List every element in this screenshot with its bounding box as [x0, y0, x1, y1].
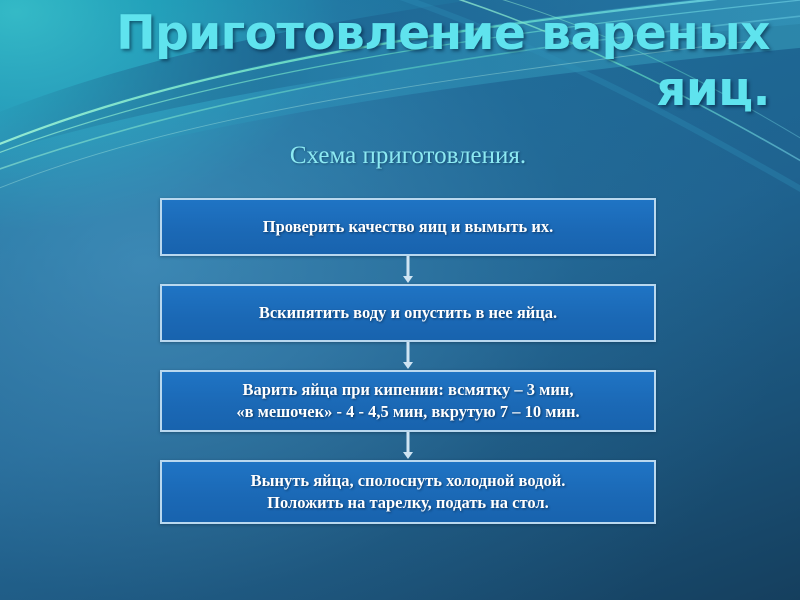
flow-node-label: Проверить качество яиц и вымыть их.	[263, 216, 553, 238]
connector-line	[407, 432, 410, 454]
process-flowchart: Проверить качество яиц и вымыть их. Вски…	[160, 198, 656, 524]
flow-connector-3	[160, 432, 656, 460]
flow-node-label: Варить яйца при кипении: всмятку – 3 мин…	[236, 379, 579, 423]
connector-line	[407, 256, 410, 278]
flow-connector-2	[160, 342, 656, 370]
connector-line	[407, 342, 410, 364]
flow-connector-1	[160, 256, 656, 284]
arrow-down-icon	[403, 276, 413, 283]
flow-node-label: Вскипятить воду и опустить в нее яйца.	[259, 302, 557, 324]
presentation-slide: Приготовление вареных яиц. Схема пригото…	[0, 0, 800, 600]
flow-node-step-4: Вынуть яйца, сполоснуть холодной водой. …	[160, 460, 656, 524]
flow-node-step-1: Проверить качество яиц и вымыть их.	[160, 198, 656, 256]
diagram-subtitle: Схема приготовления.	[160, 140, 656, 172]
arrow-down-icon	[403, 362, 413, 369]
arrow-down-icon	[403, 452, 413, 459]
flow-node-label: Вынуть яйца, сполоснуть холодной водой. …	[251, 470, 566, 514]
page-title: Приготовление вареных яиц.	[80, 6, 770, 118]
flow-node-step-3: Варить яйца при кипении: всмятку – 3 мин…	[160, 370, 656, 432]
flow-node-step-2: Вскипятить воду и опустить в нее яйца.	[160, 284, 656, 342]
